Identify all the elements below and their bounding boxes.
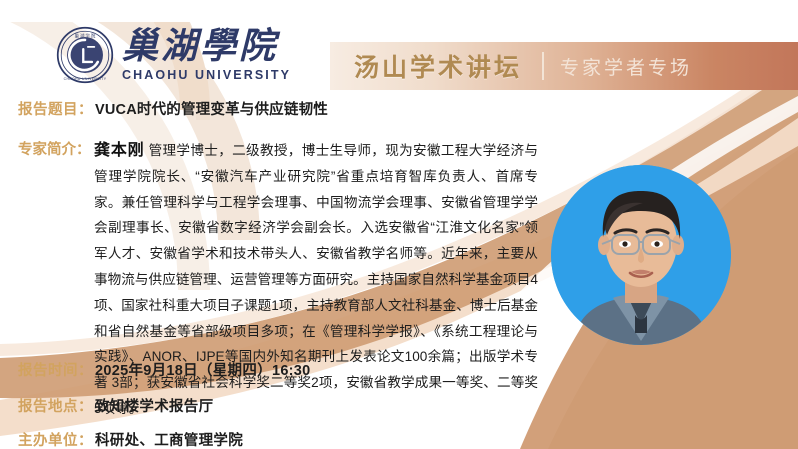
time-value: 2025年9月18日（星期四）16:30: [95, 359, 311, 380]
speaker-portrait: [551, 165, 731, 345]
topic-row: 报告题目： VUCA时代的管理变革与供应链韧性: [18, 98, 328, 119]
topic-value: VUCA时代的管理变革与供应链韧性: [95, 98, 328, 119]
place-label: 报告地点：: [18, 395, 93, 416]
banner-main-title: 汤山学术讲坛: [354, 48, 522, 84]
time-label: 报告时间：: [18, 359, 93, 380]
place-row: 报告地点： 致知楼学术报告厅: [18, 395, 213, 416]
poster-header: 巢 湖 学 院 CHAOHU UNIVERSITY 巢湖學院 CHAOHU UN…: [0, 0, 798, 96]
university-logo: 巢 湖 学 院 CHAOHU UNIVERSITY 巢湖學院 CHAOHU UN…: [56, 26, 291, 84]
topic-label: 报告题目：: [18, 98, 93, 119]
svg-text:巢 湖 学 院: 巢 湖 学 院: [75, 33, 96, 40]
logo-name-en: CHAOHU UNIVERSITY: [122, 69, 291, 82]
chaohu-university-seal-icon: 巢 湖 学 院 CHAOHU UNIVERSITY: [56, 26, 114, 84]
bio-label: 专家简介：: [18, 138, 91, 164]
banner-subtitle: 专家学者专场: [560, 53, 692, 80]
svg-text:CHAOHU UNIVERSITY: CHAOHU UNIVERSITY: [64, 77, 107, 81]
lecture-series-banner: 汤山学术讲坛 专家学者专场: [330, 42, 798, 90]
host-row: 主办单位： 科研处、工商管理学院: [18, 429, 243, 449]
host-label: 主办单位：: [18, 429, 93, 449]
seminar-poster: 巢 湖 学 院 CHAOHU UNIVERSITY 巢湖學院 CHAOHU UN…: [0, 0, 798, 449]
time-row: 报告时间： 2025年9月18日（星期四）16:30: [18, 359, 311, 380]
logo-name-cn: 巢湖學院: [122, 28, 278, 64]
speaker-name: 龚本刚: [94, 142, 144, 159]
host-value: 科研处、工商管理学院: [95, 429, 243, 449]
banner-divider: [542, 52, 544, 80]
place-value: 致知楼学术报告厅: [95, 395, 213, 416]
